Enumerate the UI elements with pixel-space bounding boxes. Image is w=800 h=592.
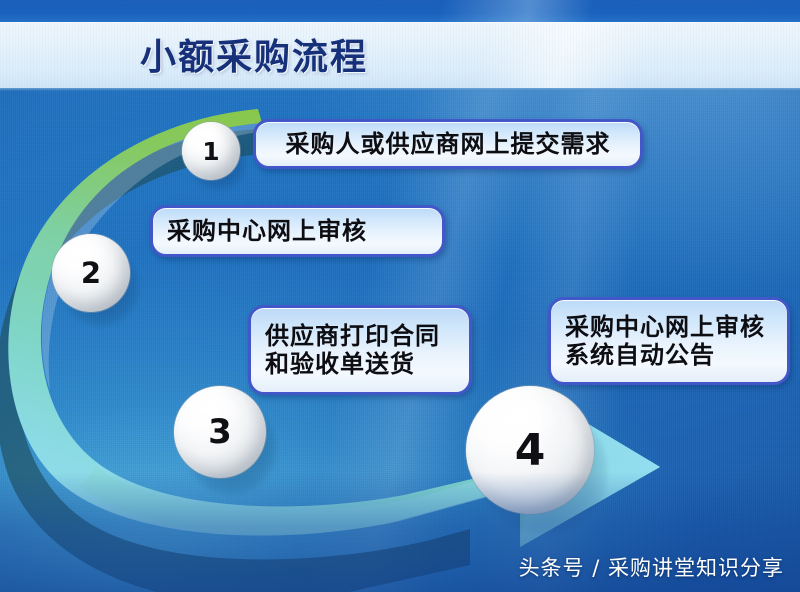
sphere-2: 2 (52, 234, 130, 312)
step-number-1: 1 (202, 137, 219, 166)
page-title: 小额采购流程 (140, 28, 368, 80)
step-box-4-line-1: 采购中心网上审核 (565, 313, 765, 341)
step-box-3-line-1: 供应商打印合同 (265, 322, 440, 350)
step-box-1-line-1: 采购人或供应商网上提交需求 (286, 130, 611, 158)
step-box-1[interactable]: 采购人或供应商网上提交需求 (253, 119, 643, 169)
title-band-top-strip (0, 0, 800, 22)
step-box-4-line-2: 系统自动公告 (565, 341, 715, 369)
sphere-1: 1 (182, 122, 240, 180)
step-box-4[interactable]: 采购中心网上审核 系统自动公告 (548, 297, 790, 385)
step-number-4: 4 (515, 425, 546, 476)
step-box-3[interactable]: 供应商打印合同 和验收单送货 (248, 305, 472, 395)
step-box-3-line-2: 和验收单送货 (265, 350, 415, 378)
slide-canvas: 小额采购流程 采购人或供应商网上提交需求 1 采购中心网上审核 2 供应商打印合… (0, 0, 800, 592)
sphere-3: 3 (174, 386, 266, 478)
step-number-2: 2 (81, 256, 101, 290)
watermark-credit: 头条号 / 采购讲堂知识分享 (519, 552, 784, 582)
title-band (0, 22, 800, 88)
title-band-edge (0, 88, 800, 91)
step-box-2[interactable]: 采购中心网上审核 (150, 205, 445, 257)
step-box-2-line-1: 采购中心网上审核 (167, 217, 367, 245)
step-number-3: 3 (208, 412, 232, 452)
